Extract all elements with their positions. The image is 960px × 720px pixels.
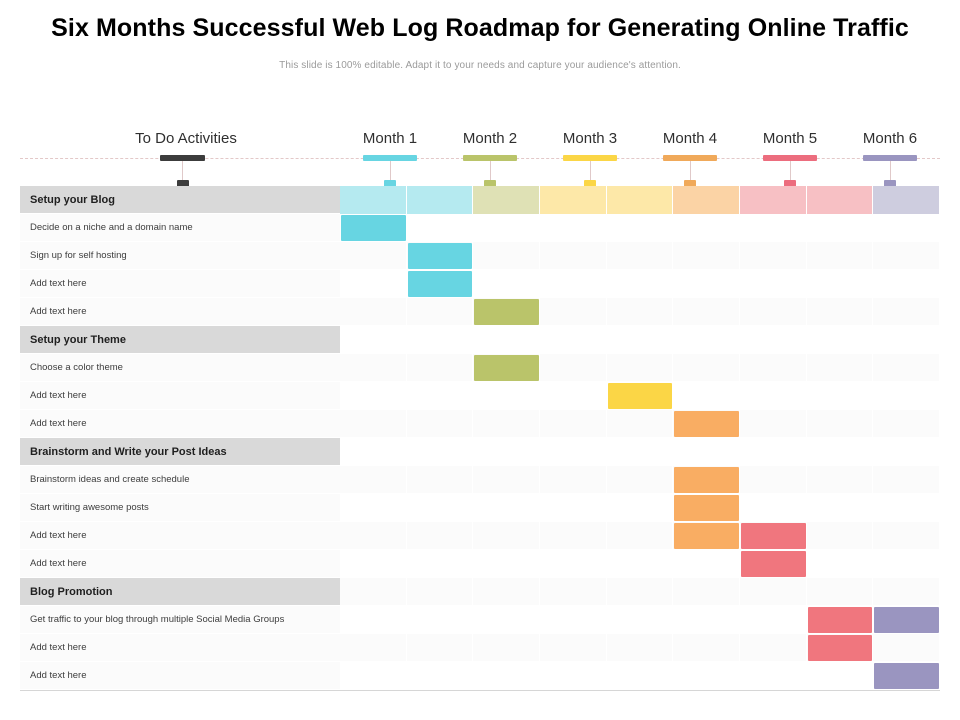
category-label: Brainstorm and Write your Post Ideas: [20, 438, 340, 466]
timeline-cell[interactable]: [873, 578, 940, 606]
timeline-cell[interactable]: [340, 634, 407, 662]
timeline-cells: [340, 186, 940, 214]
timeline-cell[interactable]: [607, 270, 674, 298]
table-row: Get traffic to your blog through multipl…: [20, 606, 940, 634]
timeline-cell[interactable]: [340, 550, 407, 578]
timeline-cell[interactable]: [607, 242, 674, 270]
task-label: Add text here: [20, 270, 340, 298]
timeline-cell[interactable]: [540, 242, 607, 270]
gantt-bar[interactable]: [874, 663, 939, 689]
timeline-cell[interactable]: [340, 494, 407, 522]
timeline-cells: [340, 354, 940, 382]
gantt-bar[interactable]: [674, 411, 739, 437]
timeline-header-band: [607, 186, 673, 214]
timeline-cell[interactable]: [873, 326, 940, 354]
timeline-cell[interactable]: [740, 214, 807, 242]
timeline-cell[interactable]: [807, 466, 874, 494]
timeline-cell[interactable]: [607, 466, 674, 494]
timeline-cell[interactable]: [340, 298, 407, 326]
timeline-cell[interactable]: [607, 634, 674, 662]
timeline-cells: [340, 326, 940, 354]
timeline-cell[interactable]: [807, 494, 874, 522]
timeline-cell[interactable]: [407, 550, 474, 578]
timeline-cell[interactable]: [807, 298, 874, 326]
timeline-cell[interactable]: [473, 326, 540, 354]
timeline-cell[interactable]: [807, 438, 874, 466]
timeline-cell[interactable]: [540, 382, 607, 410]
table-row: Add text here: [20, 662, 940, 690]
timeline-cell[interactable]: [873, 522, 940, 550]
task-label: Get traffic to your blog through multipl…: [20, 606, 340, 634]
timeline-cell[interactable]: [607, 354, 674, 382]
gantt-bar[interactable]: [808, 635, 873, 661]
timeline-cell[interactable]: [740, 270, 807, 298]
timeline-cell[interactable]: [673, 550, 740, 578]
timeline-header: To Do Activities Month 1Month 2Month 3Mo…: [0, 130, 960, 186]
table-row: Start writing awesome posts: [20, 494, 940, 522]
timeline-header-band: [740, 186, 806, 214]
timeline-cell[interactable]: [540, 550, 607, 578]
timeline-cell[interactable]: [740, 326, 807, 354]
timeline-cells: [340, 578, 940, 606]
timeline-cell[interactable]: [807, 354, 874, 382]
table-row: Decide on a niche and a domain name: [20, 214, 940, 242]
category-label: Blog Promotion: [20, 578, 340, 606]
timeline-cell[interactable]: [607, 578, 674, 606]
timeline-cell[interactable]: [873, 410, 940, 438]
gantt-bar[interactable]: [474, 299, 539, 325]
timeline-cell[interactable]: [740, 438, 807, 466]
timeline-cell[interactable]: [473, 578, 540, 606]
timeline-cell[interactable]: [473, 466, 540, 494]
timeline-cell[interactable]: [740, 382, 807, 410]
category-row: Brainstorm and Write your Post Ideas: [20, 438, 940, 466]
timeline-cell[interactable]: [540, 270, 607, 298]
timeline-cell[interactable]: [740, 354, 807, 382]
timeline-cell[interactable]: [473, 382, 540, 410]
task-label: Add text here: [20, 634, 340, 662]
timeline-cell[interactable]: [407, 354, 474, 382]
timeline-cell[interactable]: [540, 578, 607, 606]
timeline-cell[interactable]: [673, 578, 740, 606]
slide-canvas: Six Months Successful Web Log Roadmap fo…: [0, 0, 960, 720]
timeline-cell[interactable]: [340, 242, 407, 270]
timeline-cell[interactable]: [540, 326, 607, 354]
table-row: Add text here: [20, 634, 940, 662]
timeline-cell[interactable]: [473, 634, 540, 662]
timeline-cell[interactable]: [807, 662, 874, 690]
task-label: Sign up for self hosting: [20, 242, 340, 270]
task-label: Add text here: [20, 662, 340, 690]
timeline-header-band: [340, 186, 406, 214]
timeline-cell[interactable]: [540, 438, 607, 466]
table-row: Brainstorm ideas and create schedule: [20, 466, 940, 494]
timeline-header-band: [473, 186, 539, 214]
table-row: Add text here: [20, 298, 940, 326]
timeline-cell[interactable]: [407, 634, 474, 662]
timeline-cell[interactable]: [873, 242, 940, 270]
roadmap-grid: Setup your BlogDecide on a niche and a d…: [20, 186, 940, 690]
timeline-cell[interactable]: [407, 662, 474, 690]
page-subtitle: This slide is 100% editable. Adapt it to…: [0, 60, 960, 71]
timeline-cells: [340, 242, 940, 270]
timeline-cell[interactable]: [673, 354, 740, 382]
timeline-cell[interactable]: [873, 214, 940, 242]
timeline-cell[interactable]: [473, 438, 540, 466]
timeline-cell[interactable]: [473, 606, 540, 634]
timeline-cell[interactable]: [407, 522, 474, 550]
table-row: Add text here: [20, 410, 940, 438]
timeline-cell[interactable]: [873, 270, 940, 298]
timeline-cell[interactable]: [540, 298, 607, 326]
timeline-cell[interactable]: [540, 522, 607, 550]
table-row: Sign up for self hosting: [20, 242, 940, 270]
task-label: Add text here: [20, 298, 340, 326]
timeline-cell[interactable]: [540, 606, 607, 634]
timeline-cell[interactable]: [873, 550, 940, 578]
timeline-cell[interactable]: [407, 382, 474, 410]
timeline-cell[interactable]: [407, 326, 474, 354]
category-row: Setup your Blog: [20, 186, 940, 214]
timeline-cell[interactable]: [673, 270, 740, 298]
timeline-cell[interactable]: [607, 494, 674, 522]
timeline-cell[interactable]: [607, 522, 674, 550]
gantt-bar[interactable]: [741, 523, 806, 549]
timeline-cells: [340, 382, 940, 410]
page-title: Six Months Successful Web Log Roadmap fo…: [0, 14, 960, 43]
gantt-bar[interactable]: [608, 383, 673, 409]
timeline-cell[interactable]: [407, 578, 474, 606]
timeline-cell[interactable]: [407, 466, 474, 494]
task-label: Decide on a niche and a domain name: [20, 214, 340, 242]
timeline-cell[interactable]: [407, 214, 474, 242]
timeline-cells: [340, 662, 940, 690]
table-row: Add text here: [20, 270, 940, 298]
task-label: Start writing awesome posts: [20, 494, 340, 522]
timeline-cell[interactable]: [740, 410, 807, 438]
timeline-cell[interactable]: [673, 662, 740, 690]
timeline-cell[interactable]: [807, 410, 874, 438]
gantt-bar[interactable]: [674, 467, 739, 493]
category-label: Setup your Theme: [20, 326, 340, 354]
timeline-cells: [340, 606, 940, 634]
timeline-cells: [340, 550, 940, 578]
timeline-header-band: [407, 186, 473, 214]
timeline-cell[interactable]: [740, 242, 807, 270]
gantt-bar[interactable]: [674, 523, 739, 549]
timeline-cells: [340, 298, 940, 326]
timeline-cell[interactable]: [807, 522, 874, 550]
timeline-cell[interactable]: [873, 466, 940, 494]
timeline-cell[interactable]: [607, 550, 674, 578]
table-row: Add text here: [20, 522, 940, 550]
timeline-cell[interactable]: [340, 438, 407, 466]
timeline-cell[interactable]: [340, 270, 407, 298]
task-label: Brainstorm ideas and create schedule: [20, 466, 340, 494]
timeline-cell[interactable]: [473, 550, 540, 578]
timeline-cell[interactable]: [807, 578, 874, 606]
timeline-cell[interactable]: [540, 466, 607, 494]
timeline-cell[interactable]: [340, 522, 407, 550]
timeline-cell[interactable]: [607, 298, 674, 326]
timeline-cells: [340, 634, 940, 662]
timeline-cell[interactable]: [407, 494, 474, 522]
task-label: Add text here: [20, 550, 340, 578]
task-label: Choose a color theme: [20, 354, 340, 382]
timeline-cell[interactable]: [540, 354, 607, 382]
timeline-cell[interactable]: [673, 298, 740, 326]
timeline-cell[interactable]: [407, 438, 474, 466]
timeline-cell[interactable]: [473, 494, 540, 522]
timeline-cell[interactable]: [673, 382, 740, 410]
timeline-cell[interactable]: [673, 326, 740, 354]
task-label: Add text here: [20, 382, 340, 410]
timeline-cells: [340, 494, 940, 522]
gantt-bar[interactable]: [741, 551, 806, 577]
timeline-cells: [340, 522, 940, 550]
timeline-cell[interactable]: [873, 494, 940, 522]
table-row: Choose a color theme: [20, 354, 940, 382]
category-row: Setup your Theme: [20, 326, 940, 354]
category-label: Setup your Blog: [20, 186, 340, 214]
timeline-cell[interactable]: [873, 634, 940, 662]
timeline-cell[interactable]: [340, 382, 407, 410]
timeline-cell[interactable]: [807, 270, 874, 298]
timeline-cell[interactable]: [407, 298, 474, 326]
timeline-cell[interactable]: [740, 634, 807, 662]
timeline-cells: [340, 410, 940, 438]
timeline-cell[interactable]: [540, 494, 607, 522]
timeline-cell[interactable]: [473, 522, 540, 550]
timeline-cell[interactable]: [807, 326, 874, 354]
timeline-cell[interactable]: [740, 662, 807, 690]
timeline-cell[interactable]: [340, 354, 407, 382]
timeline-cell[interactable]: [473, 410, 540, 438]
timeline-cell[interactable]: [607, 410, 674, 438]
timeline-cell[interactable]: [807, 550, 874, 578]
gantt-bar[interactable]: [408, 243, 473, 269]
table-row: Add text here: [20, 550, 940, 578]
timeline-cell[interactable]: [607, 326, 674, 354]
timeline-cells: [340, 438, 940, 466]
task-label: Add text here: [20, 522, 340, 550]
timeline-cell[interactable]: [340, 662, 407, 690]
column-header-activities: To Do Activities: [96, 130, 276, 147]
timeline-cell[interactable]: [807, 242, 874, 270]
timeline-cell[interactable]: [473, 270, 540, 298]
timeline-cell[interactable]: [873, 438, 940, 466]
gantt-bar[interactable]: [674, 495, 739, 521]
timeline-cell[interactable]: [340, 606, 407, 634]
task-label: Add text here: [20, 410, 340, 438]
timeline-cell[interactable]: [407, 410, 474, 438]
timeline-cell[interactable]: [607, 438, 674, 466]
timeline-cell[interactable]: [540, 634, 607, 662]
gantt-bar[interactable]: [808, 607, 873, 633]
timeline-cell[interactable]: [540, 410, 607, 438]
timeline-cell[interactable]: [673, 214, 740, 242]
timeline-cell[interactable]: [607, 606, 674, 634]
timeline-cell[interactable]: [873, 382, 940, 410]
timeline-cell[interactable]: [740, 298, 807, 326]
gantt-bar[interactable]: [874, 607, 939, 633]
timeline-cell[interactable]: [740, 466, 807, 494]
category-row: Blog Promotion: [20, 578, 940, 606]
timeline-cell[interactable]: [340, 466, 407, 494]
timeline-cell[interactable]: [740, 606, 807, 634]
timeline-cell[interactable]: [740, 578, 807, 606]
timeline-cell[interactable]: [673, 634, 740, 662]
timeline-header-band: [807, 186, 873, 214]
gantt-bar[interactable]: [341, 215, 406, 241]
timeline-cell[interactable]: [340, 410, 407, 438]
timeline-cell[interactable]: [540, 662, 607, 690]
timeline-cell[interactable]: [407, 606, 474, 634]
timeline-cell[interactable]: [740, 494, 807, 522]
timeline-cell[interactable]: [340, 578, 407, 606]
timeline-cell[interactable]: [540, 214, 607, 242]
table-row: Add text here: [20, 382, 940, 410]
timeline-cell[interactable]: [873, 298, 940, 326]
timeline-cell[interactable]: [673, 438, 740, 466]
grid-bottom-border: [20, 690, 940, 691]
timeline-cells: [340, 466, 940, 494]
timeline-header-band: [673, 186, 739, 214]
timeline-cells: [340, 214, 940, 242]
timeline-cell[interactable]: [807, 214, 874, 242]
timeline-cell[interactable]: [473, 214, 540, 242]
timeline-cell[interactable]: [807, 382, 874, 410]
timeline-cell[interactable]: [607, 214, 674, 242]
gantt-bar[interactable]: [474, 355, 539, 381]
month-header-label-6: Month 6: [830, 130, 950, 147]
timeline-cell[interactable]: [607, 662, 674, 690]
timeline-cell[interactable]: [473, 242, 540, 270]
timeline-cell[interactable]: [673, 606, 740, 634]
timeline-cell[interactable]: [673, 242, 740, 270]
timeline-header-band: [540, 186, 606, 214]
gantt-bar[interactable]: [408, 271, 473, 297]
timeline-cell[interactable]: [473, 662, 540, 690]
timeline-cell[interactable]: [873, 354, 940, 382]
timeline-cell[interactable]: [340, 326, 407, 354]
timeline-cells: [340, 270, 940, 298]
timeline-header-band: [873, 186, 939, 214]
